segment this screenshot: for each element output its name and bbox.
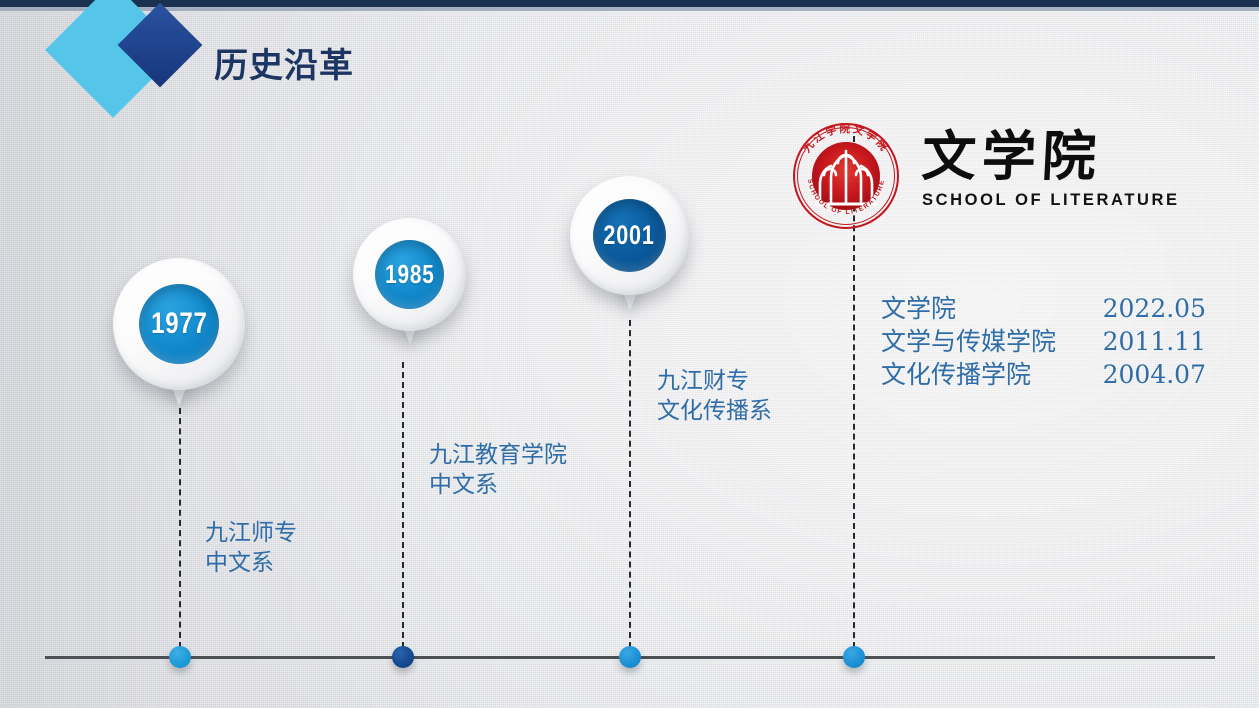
timeline-pin-2001[interactable]: 2001: [570, 176, 689, 295]
page-title: 历史沿革: [214, 38, 354, 87]
pin-year-label: 2001: [604, 220, 655, 251]
school-logo: 九江学院文学院 SCHOOL OF LITERATURE 文学院 SCHOOL …: [786, 118, 1131, 230]
caption-line-1: 九江教育学院: [429, 440, 567, 470]
rename-history-date: 2011.11: [1078, 325, 1206, 358]
timeline-dot-4[interactable]: [843, 646, 865, 668]
top-accent-underline: [0, 7, 1259, 11]
pin-disc-2001: 2001: [593, 199, 666, 272]
wordmark-english: SCHOOL OF LITERATURE: [922, 191, 1132, 210]
school-seal-icon: 九江学院文学院 SCHOOL OF LITERATURE: [786, 118, 906, 230]
leader-line-3: [629, 320, 631, 648]
caption-line-1: 九江财专: [657, 366, 772, 396]
diamond-navy-icon: [130, 15, 190, 75]
rename-history-row: 文化传播学院2004.07: [881, 358, 1206, 391]
rename-history-row: 文学与传媒学院2011.11: [881, 325, 1206, 358]
school-wordmark: 文学院 SCHOOL OF LITERATURE: [922, 124, 1132, 228]
pin-year-label: 1977: [151, 307, 208, 341]
rename-history-name: 文化传播学院: [881, 358, 1078, 391]
caption-line-2: 中文系: [429, 470, 567, 500]
leader-line-1: [179, 408, 181, 648]
timeline-dot-1[interactable]: [169, 646, 191, 668]
caption-line-1: 九江师专: [205, 518, 297, 548]
rename-history-name: 文学与传媒学院: [881, 325, 1078, 358]
caption-line-2: 文化传播系: [657, 396, 772, 426]
rename-history-row: 文学院2022.05: [881, 292, 1206, 325]
top-accent-bar: [0, 0, 1259, 7]
caption-1977: 九江师专 中文系: [205, 518, 297, 578]
timeline-pin-1985[interactable]: 1985: [353, 218, 466, 331]
rename-history-name: 文学院: [881, 292, 1078, 325]
timeline-dot-2[interactable]: [392, 646, 414, 668]
rename-history-date: 2022.05: [1078, 292, 1206, 325]
caption-line-2: 中文系: [205, 548, 297, 578]
pin-disc-1985: 1985: [375, 240, 444, 309]
pin-disc-1977: 1977: [139, 284, 219, 364]
leader-line-2: [402, 362, 404, 648]
caption-2001: 九江财专 文化传播系: [657, 366, 772, 426]
rename-history-list: 文学院2022.05 文学与传媒学院2011.11 文化传播学院2004.07: [881, 292, 1206, 391]
wordmark-chinese: 文学院: [920, 124, 1133, 188]
pin-year-label: 1985: [385, 259, 434, 290]
timeline-dot-3[interactable]: [619, 646, 641, 668]
slide-canvas: 历史沿革: [0, 0, 1259, 708]
rename-history-date: 2004.07: [1078, 358, 1206, 391]
timeline-pin-1977[interactable]: 1977: [113, 258, 245, 390]
caption-1985: 九江教育学院 中文系: [429, 440, 567, 500]
